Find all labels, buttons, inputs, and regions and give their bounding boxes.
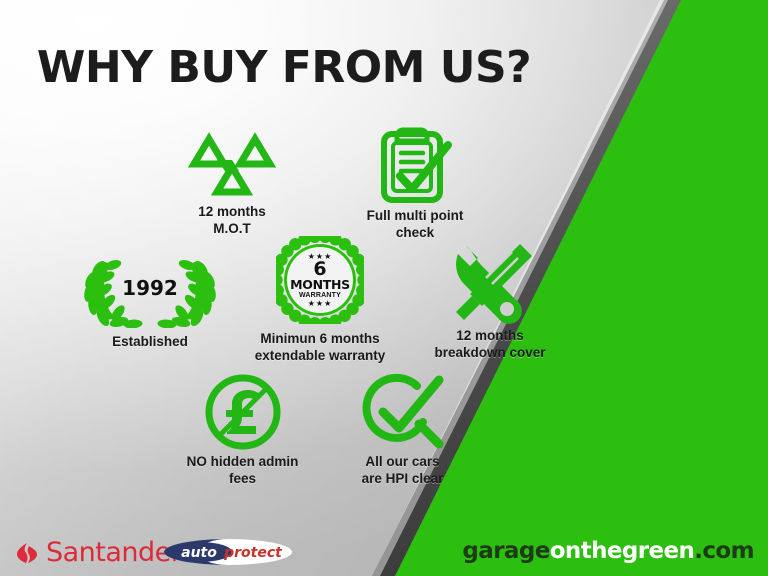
caption-line-2: breakdown cover bbox=[415, 345, 565, 362]
feature-warranty: ★★★ 6 MONTHS WARRANTY ★★★ Minimun 6 mont… bbox=[235, 236, 405, 365]
warranty-months-number: 6 bbox=[313, 261, 326, 278]
caption-line-2: fees bbox=[160, 471, 325, 488]
established-year: 1992 bbox=[75, 276, 225, 300]
caption-line-1: Established bbox=[70, 334, 230, 351]
stars-bottom: ★★★ bbox=[308, 300, 333, 308]
feature-caption: 12 months M.O.T bbox=[162, 204, 302, 238]
website-part-com: .com bbox=[694, 538, 754, 564]
santander-logo: Santander bbox=[14, 537, 181, 568]
caption-line-1: All our cars bbox=[330, 454, 475, 471]
santander-flame-icon bbox=[14, 540, 40, 566]
warranty-badge-inner: ★★★ 6 MONTHS WARRANTY ★★★ bbox=[287, 247, 353, 313]
caption-line-1: 12 months bbox=[162, 204, 302, 221]
santander-wordmark: Santander bbox=[46, 537, 181, 568]
clipboard-check-icon bbox=[340, 122, 490, 208]
feature-caption: Minimun 6 months extendable warranty bbox=[235, 331, 405, 365]
caption-line-1: NO hidden admin bbox=[160, 454, 325, 471]
caption-line-1: 12 months bbox=[415, 328, 565, 345]
feature-no-admin-fees: NO hidden admin fees bbox=[160, 370, 325, 488]
feature-hpi-clear: All our cars are HPI clear bbox=[330, 370, 475, 488]
autoprotect-logo: auto protect bbox=[163, 538, 293, 566]
website-part-garage: garage bbox=[462, 538, 549, 564]
mot-triangles-icon bbox=[162, 126, 302, 204]
wrench-screwdriver-icon bbox=[415, 236, 565, 328]
caption-line-1: Minimun 6 months bbox=[235, 331, 405, 348]
warranty-months-label: MONTHS bbox=[290, 278, 350, 291]
feature-breakdown-cover: 12 months breakdown cover bbox=[415, 236, 565, 362]
caption-line-2: extendable warranty bbox=[235, 348, 405, 365]
feature-caption: 12 months breakdown cover bbox=[415, 328, 565, 362]
check-circle-icon bbox=[330, 370, 475, 454]
feature-caption: Established bbox=[70, 334, 230, 351]
feature-multi-point-check: Full multi point check bbox=[340, 122, 490, 242]
feature-caption: All our cars are HPI clear bbox=[330, 454, 475, 488]
website-part-onthegreen: onthegreen bbox=[550, 538, 695, 564]
caption-line-2: are HPI clear bbox=[330, 471, 475, 488]
caption-line-1: Full multi point bbox=[340, 208, 490, 225]
autoprotect-word-auto: auto bbox=[181, 545, 217, 561]
page-title: WHY BUY FROM US? bbox=[0, 46, 768, 90]
warranty-badge-icon: ★★★ 6 MONTHS WARRANTY ★★★ bbox=[276, 236, 364, 324]
autoprotect-word-protect: protect bbox=[223, 545, 283, 561]
laurel-wreath-icon: 1992 bbox=[75, 248, 225, 328]
no-pound-fees-icon bbox=[160, 370, 325, 454]
footer-bar: Santander auto protect garageonthegreen.… bbox=[0, 524, 768, 576]
feature-caption: NO hidden admin fees bbox=[160, 454, 325, 488]
feature-established: 1992 Established bbox=[70, 248, 230, 351]
feature-mot: 12 months M.O.T bbox=[162, 126, 302, 238]
website-wordmark: garageonthegreen.com bbox=[462, 538, 754, 564]
infographic-canvas: WHY BUY FROM US? 12 months M.O.T bbox=[0, 0, 768, 576]
